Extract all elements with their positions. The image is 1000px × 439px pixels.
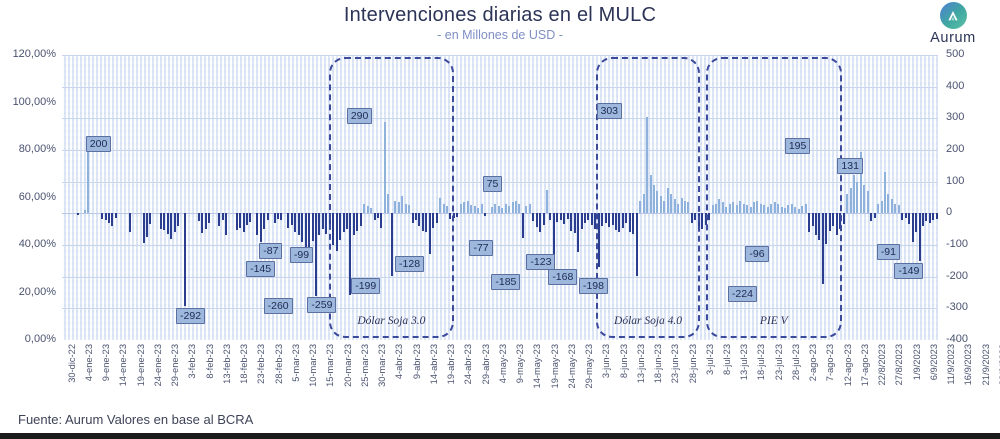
x-axis-tick: 15-mar-23 xyxy=(325,344,335,387)
chart-bar xyxy=(777,204,779,214)
chart-bar xyxy=(336,213,338,251)
x-axis-tick: 8-jul-23 xyxy=(722,344,732,375)
chart-bar xyxy=(753,202,755,213)
chart-bar xyxy=(808,213,810,232)
x-axis-tick: 9-ene-23 xyxy=(101,344,111,381)
chart-bar xyxy=(763,205,765,213)
chart-bar xyxy=(632,213,634,234)
chart-bar xyxy=(432,213,434,227)
chart-bar xyxy=(380,213,382,227)
x-axis-tick: 10-mar-23 xyxy=(308,344,318,387)
chart-bar xyxy=(305,213,307,248)
data-label-chip: 75 xyxy=(483,176,503,192)
x-axis-tick: 14-may-23 xyxy=(532,344,542,388)
chart-bar xyxy=(339,213,341,240)
y-axis-right-tick: -200 xyxy=(946,270,996,282)
chart-bar xyxy=(405,204,407,214)
region-box xyxy=(329,57,453,338)
x-axis-tick: 23-feb-23 xyxy=(256,344,266,384)
x-axis-tick: 13-jun-23 xyxy=(636,344,646,383)
chart-bar xyxy=(291,213,293,225)
chart-bar xyxy=(163,213,165,229)
chart-bar xyxy=(615,213,617,229)
chart-bar xyxy=(367,206,369,213)
chart-bar xyxy=(439,198,441,213)
chart-bar xyxy=(549,213,551,219)
chart-bar xyxy=(850,188,852,213)
chart-bar xyxy=(650,175,652,213)
x-axis-tick: 18-jul-23 xyxy=(756,344,766,380)
chart-bar xyxy=(184,213,186,305)
chart-bar xyxy=(684,201,686,214)
x-axis-tick: 23-jun-23 xyxy=(670,344,680,383)
chart-bar xyxy=(663,201,665,214)
chart-bar xyxy=(474,206,476,213)
chart-bar xyxy=(318,213,320,235)
chart-bar xyxy=(705,213,707,225)
chart-bar xyxy=(932,213,934,219)
data-label-chip: -199 xyxy=(351,278,380,294)
y-axis-left-tick: 100,00% xyxy=(0,96,56,108)
chart-bar xyxy=(570,213,572,231)
chart-bar xyxy=(625,213,627,223)
chart-bar xyxy=(498,206,500,214)
chart-bar xyxy=(701,213,703,229)
data-label-chip: -87 xyxy=(259,243,282,259)
chart-bar xyxy=(415,213,417,220)
data-label-chip: -198 xyxy=(579,278,608,294)
chart-bar xyxy=(560,213,562,220)
chart-bar xyxy=(832,213,834,226)
x-axis-tick: 3-jun-23 xyxy=(601,344,611,378)
chart-bar xyxy=(639,201,641,214)
x-axis-tick: 22/8/2023 xyxy=(877,344,887,385)
chart-bar xyxy=(922,213,924,226)
chart-bar xyxy=(856,182,858,214)
chart-bar xyxy=(267,213,269,219)
chart-bar xyxy=(694,213,696,219)
chart-bar xyxy=(236,213,238,229)
chart-bar xyxy=(653,185,655,214)
x-axis-tick: 4-may-23 xyxy=(498,344,508,383)
chart-bar xyxy=(277,213,279,219)
chart-bar xyxy=(160,213,162,228)
chart-bar xyxy=(363,204,365,214)
x-axis-tick: 16/9/2023 xyxy=(963,344,973,385)
chart-bar xyxy=(260,213,262,242)
chart-bar xyxy=(208,213,210,223)
chart-bar xyxy=(394,201,396,214)
chart-bar xyxy=(174,213,176,231)
chart-bar xyxy=(591,213,593,224)
chart-bar xyxy=(746,205,748,213)
y-axis-left-tick: 120,00% xyxy=(0,48,56,60)
chart-bar xyxy=(170,213,172,238)
page-subtitle: - en Millones de USD - xyxy=(0,28,1000,42)
chart-bar xyxy=(532,213,534,221)
x-axis-tick: 24-ene-23 xyxy=(153,344,163,386)
x-axis-tick: 18-jun-23 xyxy=(653,344,663,383)
x-axis-tick: 28-jun-23 xyxy=(688,344,698,383)
chart-bar xyxy=(401,196,403,213)
chart-bar xyxy=(512,202,514,213)
chart-bar xyxy=(798,209,800,214)
aurum-arrow-icon xyxy=(940,2,967,29)
chart-bar xyxy=(243,213,245,231)
chart-bar xyxy=(894,204,896,214)
chart-bar xyxy=(198,213,200,221)
chart-bar xyxy=(929,213,931,223)
chart-bar xyxy=(360,213,362,226)
chart-bar xyxy=(829,213,831,230)
chart-bar xyxy=(887,194,889,213)
aurum-wordmark: Aurum xyxy=(914,30,992,46)
x-axis-tick: 19-may-23 xyxy=(550,344,560,388)
data-label-chip: -96 xyxy=(745,246,768,262)
data-label-chip: -224 xyxy=(728,286,757,302)
chart-bar xyxy=(925,213,927,221)
chart-bar xyxy=(329,213,331,226)
x-axis-tick: 9-abr-23 xyxy=(412,344,422,379)
x-axis-tick: 11/9/2023 xyxy=(946,344,956,385)
chart-bar xyxy=(677,204,679,214)
chart-bar xyxy=(343,213,345,232)
data-label-chip: -99 xyxy=(290,247,313,263)
chart-bar xyxy=(522,213,524,237)
x-axis-tick: 9-may-23 xyxy=(515,344,525,383)
data-label-chip: 195 xyxy=(785,138,811,154)
x-axis-tick: 13-jul-23 xyxy=(739,344,749,380)
x-axis-tick: 18-feb-23 xyxy=(239,344,249,384)
gridline xyxy=(62,245,938,246)
chart-bar xyxy=(612,213,614,225)
chart-bar xyxy=(687,202,689,213)
chart-bar xyxy=(280,213,282,220)
x-axis-tick: 5-mar-23 xyxy=(291,344,301,382)
chart-bar xyxy=(636,213,638,276)
x-axis-tick: 21/9/2023 xyxy=(981,344,991,385)
chart-bar xyxy=(618,213,620,232)
x-axis-tick: 14-abr-23 xyxy=(429,344,439,384)
chart-bar xyxy=(481,204,483,214)
chart-bar xyxy=(353,213,355,235)
chart-bar xyxy=(111,213,113,226)
x-axis-tick: 29-may-23 xyxy=(584,344,594,388)
x-axis-tick: 30-mar-23 xyxy=(377,344,387,387)
chart-bar xyxy=(294,213,296,232)
chart-bar xyxy=(743,204,745,214)
chart-bar xyxy=(794,207,796,213)
chart-bar xyxy=(412,213,414,223)
chart-bar xyxy=(322,213,324,229)
chart-bar xyxy=(787,205,789,213)
chart-bar xyxy=(822,213,824,284)
chart-bar xyxy=(656,191,658,213)
x-axis-tick: 6/9/2023 xyxy=(929,344,939,380)
chart-bar xyxy=(384,122,386,214)
chart-bar xyxy=(425,213,427,232)
chart-bar xyxy=(546,190,548,214)
chart-bar xyxy=(356,213,358,230)
x-axis-tick: 14-ene-23 xyxy=(118,344,128,386)
chart-bar xyxy=(256,213,258,235)
chart-bar xyxy=(377,213,379,218)
x-axis-tick: 4-ene-23 xyxy=(84,344,94,381)
x-axis-tick: 1/9/2023 xyxy=(912,344,922,380)
chart-bar xyxy=(467,201,469,214)
chart-page: Intervenciones diarias en el MULC - en M… xyxy=(0,0,1000,439)
chart-bar xyxy=(870,213,872,221)
chart-bar xyxy=(781,207,783,213)
x-axis-tick: 25-mar-23 xyxy=(360,344,370,387)
chart-bar xyxy=(853,175,855,213)
chart-bar xyxy=(722,202,724,213)
chart-bar xyxy=(263,213,265,229)
chart-bar xyxy=(863,185,865,214)
data-label-chip: -168 xyxy=(548,269,577,285)
chart-bar xyxy=(698,213,700,227)
chart-bar xyxy=(770,204,772,213)
chart-bar xyxy=(218,213,220,226)
chart-bar xyxy=(429,213,431,254)
chart-bar xyxy=(815,213,817,235)
chart-bar xyxy=(784,208,786,214)
chart-bar xyxy=(825,213,827,243)
x-axis-tick: 13-feb-23 xyxy=(222,344,232,384)
chart-bar xyxy=(105,213,107,220)
chart-bar xyxy=(446,206,448,213)
chart-bar xyxy=(805,204,807,214)
y-axis-right-tick: 400 xyxy=(946,80,996,92)
x-axis-tick: 17-ago-23 xyxy=(860,344,870,386)
y-axis-right-tick: 300 xyxy=(946,111,996,123)
data-label-chip: -128 xyxy=(395,256,424,272)
chart-bar xyxy=(143,213,145,243)
chart-bar xyxy=(725,207,727,213)
x-axis-tick: 24-abr-23 xyxy=(463,344,473,384)
chart-bar xyxy=(453,213,455,218)
x-axis-tick: 29-abr-23 xyxy=(481,344,491,384)
x-axis-tick: 29-ene-23 xyxy=(170,344,180,386)
y-axis-left-tick: 80,00% xyxy=(0,143,56,155)
chart-bar xyxy=(436,213,438,223)
chart-bar xyxy=(646,117,648,213)
chart-bar xyxy=(418,213,420,226)
region-label: Dólar Soja 4.0 xyxy=(614,315,682,327)
chart-bar xyxy=(287,213,289,227)
chart-bar xyxy=(477,208,479,214)
chart-bar xyxy=(518,204,520,213)
chart-bar xyxy=(839,213,841,229)
chart-bar xyxy=(584,213,586,223)
chart-bar xyxy=(149,213,151,224)
chart-bar xyxy=(501,208,503,214)
chart-bar xyxy=(629,213,631,231)
bottom-bar xyxy=(0,433,1000,439)
chart-bar xyxy=(201,213,203,233)
chart-bar xyxy=(298,213,300,235)
chart-bar xyxy=(87,150,89,213)
chart-bar xyxy=(667,188,669,213)
chart-bar xyxy=(718,199,720,213)
data-label-chip: -77 xyxy=(469,240,492,256)
chart-bar xyxy=(587,213,589,219)
y-axis-left-tick: 0,00% xyxy=(0,333,56,345)
chart-bar xyxy=(901,213,903,219)
chart-bar xyxy=(556,213,558,222)
data-label-chip: -123 xyxy=(526,254,555,270)
y-axis-left-tick: 40,00% xyxy=(0,238,56,250)
chart-bar xyxy=(274,213,276,223)
x-axis-tick: 27/8/2023 xyxy=(894,344,904,385)
y-axis-right-tick: 500 xyxy=(946,48,996,60)
chart-bar xyxy=(605,213,607,223)
chart-bar xyxy=(567,213,569,219)
chart-bar xyxy=(881,201,883,214)
chart-bar xyxy=(325,213,327,233)
chart-bar xyxy=(674,199,676,213)
x-axis-tick: 19-ene-23 xyxy=(136,344,146,386)
chart-bar xyxy=(536,213,538,226)
x-axis-tick: 8-jun-23 xyxy=(619,344,629,378)
x-axis-tick: 8-feb-23 xyxy=(205,344,215,379)
gridline xyxy=(62,55,938,56)
chart-bar xyxy=(577,213,579,252)
chart-bar xyxy=(601,213,603,226)
chart-bar xyxy=(460,204,462,213)
chart-bar xyxy=(843,213,845,224)
chart-bar xyxy=(774,202,776,213)
chart-bar xyxy=(936,213,938,219)
chart-bar xyxy=(456,213,458,217)
x-axis-tick: 19-abr-23 xyxy=(446,344,456,384)
x-axis-tick: 23-jul-23 xyxy=(774,344,784,380)
data-label-chip: -91 xyxy=(877,244,900,260)
chart-bar xyxy=(205,213,207,228)
data-label-chip: -292 xyxy=(176,308,205,324)
gridline xyxy=(62,87,938,88)
chart-bar xyxy=(77,213,79,215)
chart-bar xyxy=(239,213,241,228)
chart-bar xyxy=(908,213,910,224)
chart-bar xyxy=(222,213,224,220)
chart-bar xyxy=(312,213,314,241)
x-axis-tick: 28-feb-23 xyxy=(274,344,284,384)
source-note: Fuente: Aurum Valores en base al BCRA xyxy=(18,412,253,427)
chart-bar xyxy=(736,205,738,213)
chart-bar xyxy=(836,213,838,235)
chart-bar xyxy=(470,205,472,213)
chart-bar xyxy=(884,172,886,213)
chart-bar xyxy=(84,210,86,214)
chart-bar xyxy=(249,213,251,222)
chart-bar xyxy=(563,213,565,224)
chart-bar xyxy=(670,194,672,213)
x-axis-tick: 12-ago-23 xyxy=(843,344,853,386)
chart-bar xyxy=(608,213,610,227)
chart-bar xyxy=(167,213,169,234)
chart-bar xyxy=(346,213,348,228)
x-axis-tick: 30-dic-22 xyxy=(67,344,77,383)
chart-bar xyxy=(712,205,714,213)
chart-bar xyxy=(760,204,762,214)
y-axis-right-tick: 200 xyxy=(946,143,996,155)
chart-bar xyxy=(708,213,710,220)
data-label-chip: -149 xyxy=(894,263,923,279)
chart-bar xyxy=(874,213,876,218)
region-box xyxy=(706,57,842,338)
chart-bar xyxy=(108,213,110,223)
chart-bar xyxy=(529,204,531,214)
chart-bar xyxy=(146,213,148,237)
y-axis-right-tick: 0 xyxy=(946,206,996,218)
chart-bar xyxy=(729,204,731,213)
chart-bar xyxy=(463,202,465,213)
chart-bar xyxy=(691,213,693,223)
chart-plot-area: Dólar Soja 3.0Dólar Soja 4.0PIE V200-292… xyxy=(62,55,938,340)
chart-bar xyxy=(891,199,893,213)
chart-bar xyxy=(898,205,900,213)
chart-bar xyxy=(739,201,741,214)
chart-bar xyxy=(515,201,517,214)
x-axis-tick: 28-jul-23 xyxy=(791,344,801,380)
chart-bar xyxy=(101,213,103,219)
chart-bar xyxy=(574,213,576,233)
chart-bar xyxy=(767,207,769,213)
chart-bar xyxy=(374,213,376,219)
data-label-chip: -259 xyxy=(307,297,336,313)
chart-bar xyxy=(494,204,496,214)
chart-bar xyxy=(225,213,227,235)
chart-bar xyxy=(818,213,820,240)
chart-bar xyxy=(449,213,451,219)
chart-bar xyxy=(543,213,545,225)
chart-bar xyxy=(508,206,510,213)
chart-bar xyxy=(491,207,493,213)
chart-bar xyxy=(387,194,389,213)
chart-bar xyxy=(115,213,117,218)
chart-bar xyxy=(301,213,303,242)
chart-bar xyxy=(919,213,921,260)
x-axis-tick: 4-abr-23 xyxy=(394,344,404,379)
chart-bar xyxy=(525,206,527,213)
y-axis-right-tick: -100 xyxy=(946,238,996,250)
chart-bar xyxy=(505,204,507,214)
chart-bar xyxy=(484,213,486,216)
x-axis-tick: 3-feb-23 xyxy=(187,344,197,379)
chart-bar xyxy=(660,196,662,213)
chart-bar xyxy=(422,213,424,230)
chart-bar xyxy=(598,213,600,266)
data-label-chip: 131 xyxy=(837,158,863,174)
chart-bar xyxy=(681,198,683,214)
x-axis-tick: 20-mar-23 xyxy=(343,344,353,387)
x-axis-tick: 3-jul-23 xyxy=(705,344,715,375)
chart-bar xyxy=(129,213,131,232)
chart-bar xyxy=(370,208,372,214)
gridline xyxy=(62,118,938,119)
chart-bar xyxy=(791,204,793,214)
data-label-chip: -185 xyxy=(491,274,520,290)
chart-bar xyxy=(398,202,400,213)
chart-bar xyxy=(905,213,907,218)
chart-bar xyxy=(594,213,596,229)
chart-bar xyxy=(715,204,717,214)
aurum-logo: Aurum xyxy=(914,2,992,52)
x-axis-tick: 24-may-23 xyxy=(567,344,577,388)
chart-bar xyxy=(315,213,317,295)
chart-bar xyxy=(408,205,410,213)
